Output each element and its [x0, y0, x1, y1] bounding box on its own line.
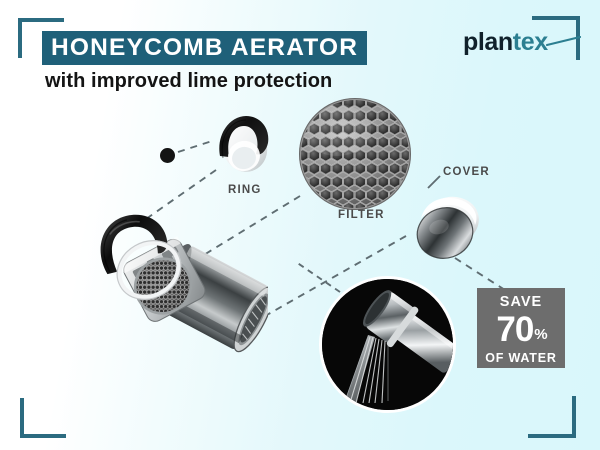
part-filter-honeycomb-image — [297, 96, 413, 212]
badge-of-water-label: OF WATER — [477, 352, 565, 365]
product-poster: HONEYCOMB AERATOR with improved lime pro… — [0, 0, 600, 450]
badge-unit: % — [534, 326, 546, 343]
part-main-aerator-image — [88, 208, 268, 363]
part-label-cover: COVER — [443, 166, 490, 178]
part-ring-image — [214, 112, 272, 174]
badge-value-row: 70% — [477, 312, 565, 347]
part-label-filter: FILTER — [338, 209, 385, 221]
pointer-dot-marker — [160, 148, 175, 163]
part-label-ring: RING — [228, 184, 262, 196]
badge-save-label: SAVE — [477, 295, 565, 310]
save-water-badge: SAVE 70% OF WATER — [477, 288, 565, 368]
badge-value: 70 — [496, 310, 533, 349]
product-photo-inset — [322, 279, 453, 410]
part-cover-image — [409, 191, 487, 265]
